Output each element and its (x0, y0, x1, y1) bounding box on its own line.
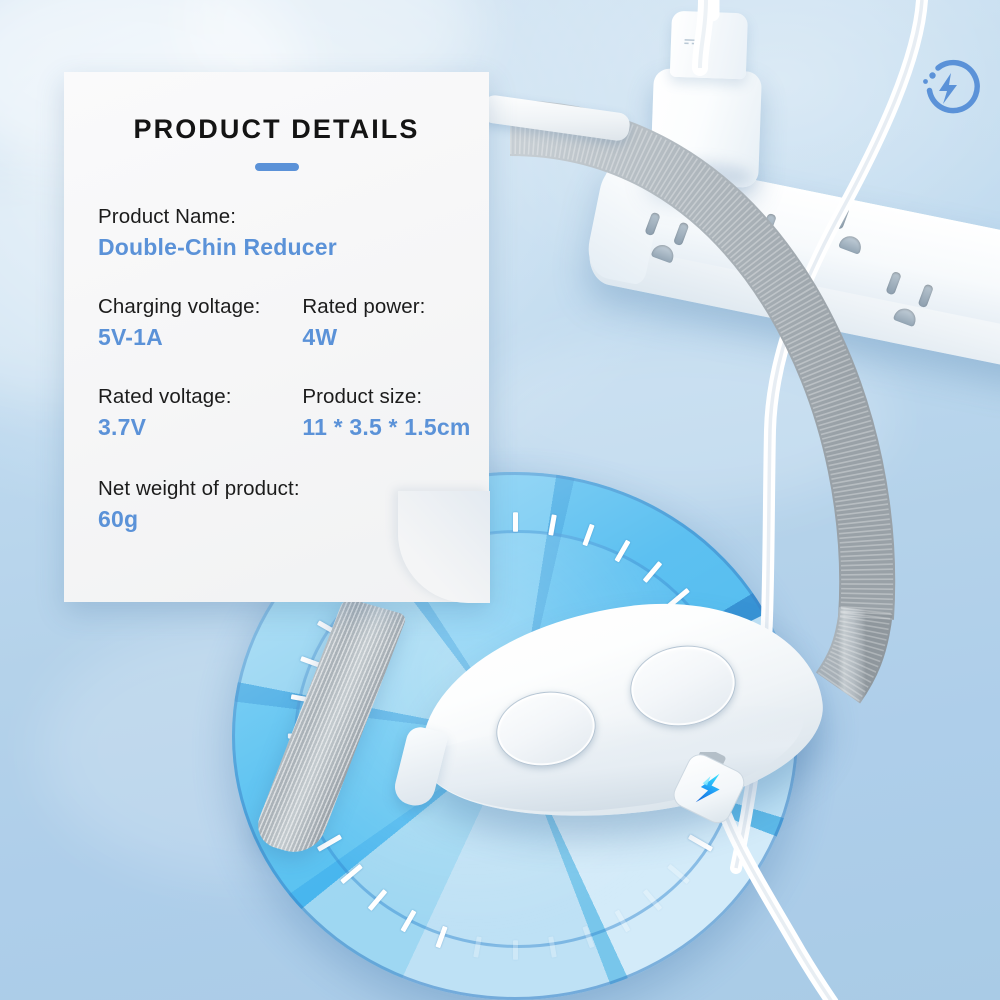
wall-charger-adapter: ⎓ (650, 68, 762, 188)
spec-value-rated-power: 4W (302, 324, 489, 351)
spec-row-charging: Charging voltage: 5V-1A Rated power: 4W (98, 295, 489, 351)
spec-list: Product Name: Double-Chin Reducer Chargi… (64, 205, 489, 533)
disc-tick (614, 910, 630, 933)
disc-tick (287, 734, 314, 739)
head-strap-left (251, 597, 408, 859)
disc-tick (643, 561, 663, 583)
spec-row-rated: Rated voltage: 3.7V Product size: 11 * 3… (98, 385, 489, 441)
disc-tick (317, 620, 342, 637)
card-corner-curl (398, 491, 490, 603)
strap-velcro-tip (481, 94, 631, 142)
disc-tick (668, 863, 691, 883)
spec-label-charging-voltage: Charging voltage: (98, 295, 302, 319)
spec-label-product-name: Product Name: (98, 205, 489, 229)
usb-port-icon: ⎓ (678, 23, 709, 58)
disc-tick (703, 656, 730, 670)
spec-value-charging-voltage: 5V-1A (98, 324, 302, 351)
spec-value-product-size: 11 * 3.5 * 1.5cm (302, 414, 489, 441)
device-pad-left (491, 685, 601, 774)
title-underline-rule (255, 163, 299, 171)
disc-tick (582, 926, 594, 949)
card-title: PRODUCT DETAILS (64, 114, 489, 145)
background-cloud-4 (470, 330, 890, 510)
device-pad-right (624, 638, 741, 734)
disc-tick (300, 802, 327, 816)
disc-tick (548, 936, 557, 957)
fast-charge-icon (916, 56, 980, 120)
disc-tick (340, 863, 363, 883)
spec-row-product-name: Product Name: Double-Chin Reducer (98, 205, 489, 261)
background-cloud-5 (40, 620, 460, 880)
spec-value-product-name: Double-Chin Reducer (98, 234, 489, 261)
disc-tick (290, 694, 318, 704)
device-left-arm (391, 724, 449, 809)
disc-tick (317, 834, 342, 851)
product-details-card: PRODUCT DETAILS Product Name: Double-Chi… (64, 72, 489, 602)
disc-tick (513, 940, 518, 960)
disc-tick (582, 524, 594, 547)
disc-tick (368, 889, 388, 911)
disc-tick (548, 515, 557, 536)
spec-label-rated-voltage: Rated voltage: (98, 385, 302, 409)
spec-label-product-size: Product size: (302, 385, 489, 409)
spec-label-rated-power: Rated power: (302, 295, 489, 319)
disc-tick (513, 512, 518, 532)
usb-connector-lightning (660, 752, 780, 862)
product-detail-image: ⎓ (0, 0, 1000, 1000)
disc-tick (474, 936, 483, 957)
disc-tick (436, 926, 448, 949)
disc-tick (715, 734, 742, 739)
disc-tick (643, 889, 663, 911)
spec-value-rated-voltage: 3.7V (98, 414, 302, 441)
power-strip (584, 150, 1000, 373)
disc-tick (712, 694, 740, 704)
disc-tick (300, 656, 327, 670)
disc-tick (688, 620, 713, 637)
disc-tick (668, 588, 691, 608)
disc-tick (400, 910, 416, 933)
disc-tick (290, 768, 318, 778)
disc-tick (614, 539, 630, 562)
